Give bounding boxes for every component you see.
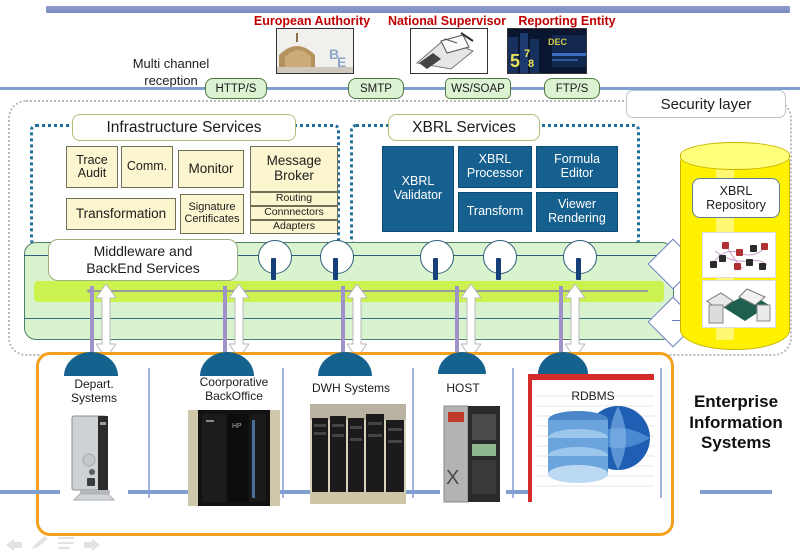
eis-hline-right — [700, 490, 772, 494]
eis-title-line3: Systems — [701, 433, 771, 454]
coorporative-line1: Coorporative — [186, 376, 282, 390]
depart-systems-image — [62, 412, 126, 502]
service-box-transform[interactable]: Transform — [458, 192, 532, 232]
eis-system-label-coorporative-backoffice: Coorporative BackOffice — [186, 376, 282, 404]
socket-bar-3 — [433, 258, 438, 280]
european-authority-image: B E — [276, 28, 354, 74]
rdbms-line1: RDBMS — [548, 390, 638, 404]
broker-sub-adapters[interactable]: Adapters — [250, 220, 338, 234]
bidirectional-arrow-4 — [461, 284, 481, 358]
host-image: X — [440, 404, 504, 504]
middleware-label: Middleware and BackEnd Services — [48, 239, 238, 281]
protocol-badge-smtp[interactable]: SMTP — [348, 78, 404, 99]
protocol-badge-ftps[interactable]: FTP/S — [544, 78, 600, 99]
socket-bar-5 — [576, 258, 581, 280]
message-broker-line1: Message — [267, 154, 322, 169]
bidirectional-arrow-5 — [565, 284, 585, 358]
dome-icon-1 — [64, 352, 118, 376]
host-line1: HOST — [430, 382, 496, 396]
multi-channel-line1: Multi channel — [96, 56, 246, 73]
socket-bar-2 — [333, 258, 338, 280]
coorporative-line2: BackOffice — [186, 390, 282, 404]
xbrl-processor-line1: XBRL — [479, 153, 512, 167]
service-box-transformation[interactable]: Transformation — [66, 198, 176, 230]
eis-system-label-dwh-systems: DWH Systems — [296, 382, 406, 396]
infrastructure-services-label: Infrastructure Services — [72, 114, 296, 141]
eis-separator-3 — [412, 368, 414, 498]
service-box-trace-audit[interactable]: Trace Audit — [66, 146, 118, 188]
viewer-rendering-line2: Rendering — [548, 212, 606, 226]
eis-hline-1 — [128, 490, 188, 494]
xbrl-validator-line1: XBRL — [402, 175, 435, 189]
eis-system-label-rdbms: RDBMS — [548, 390, 638, 404]
eis-hline-left — [0, 490, 60, 494]
protocol-badge-https[interactable]: HTTP/S — [205, 78, 267, 99]
eis-title-line1: Enterprise — [694, 392, 778, 413]
depart-systems-line1: Depart. — [56, 378, 132, 392]
formula-editor-line1: Formula — [554, 153, 600, 167]
service-box-message-broker[interactable]: Message Broker — [250, 146, 338, 192]
dome-icon-3 — [318, 352, 372, 376]
trace-audit-line1: Trace — [76, 154, 108, 168]
formula-editor-line2: Editor — [561, 167, 594, 181]
repository-network-image — [702, 232, 776, 278]
svg-text:8: 8 — [528, 58, 534, 70]
protocol-badge-wssoap[interactable]: WS/SOAP — [445, 78, 511, 99]
eis-system-label-host: HOST — [430, 382, 496, 396]
middleware-line1: Middleware and — [94, 243, 193, 260]
middleware-line2: BackEnd Services — [86, 260, 200, 277]
monitor-label: Monitor — [188, 162, 233, 177]
svg-text:DEC: DEC — [548, 37, 568, 47]
national-supervisor-image — [410, 28, 488, 74]
slide-top-bar — [46, 6, 790, 13]
socket-bar-1 — [271, 258, 276, 280]
socket-bar-4 — [496, 258, 501, 280]
eis-title-line2: Information — [689, 413, 783, 434]
service-box-formula-editor[interactable]: Formula Editor — [536, 146, 618, 188]
depart-systems-line2: Systems — [56, 392, 132, 406]
eis-separator-2 — [282, 368, 284, 498]
dome-icon-5 — [538, 352, 588, 374]
eis-system-label-depart-systems: Depart. Systems — [56, 378, 132, 406]
broker-sub-connnectors[interactable]: Connnectors — [250, 206, 338, 220]
bidirectional-arrow-2 — [229, 284, 249, 358]
svg-text:HP: HP — [232, 423, 242, 430]
xbrl-services-label: XBRL Services — [388, 114, 540, 141]
svg-text:5: 5 — [510, 51, 520, 71]
xbrl-processor-line2: Processor — [467, 167, 523, 181]
service-box-signature-certificates[interactable]: Signature Certificates — [180, 194, 244, 234]
dome-icon-2 — [200, 352, 254, 376]
message-broker-line2: Broker — [274, 169, 314, 184]
entity-title-reporting-entity: Reporting Entity — [496, 14, 638, 28]
eis-separator-1 — [148, 368, 150, 498]
broker-sub-routing[interactable]: Routing — [250, 192, 338, 206]
dwh-systems-line1: DWH Systems — [296, 382, 406, 396]
entity-title-european-authority: European Authority — [242, 14, 382, 28]
security-layer-label: Security layer — [626, 90, 786, 118]
bidirectional-arrow-3 — [347, 284, 367, 358]
repository-line2: Repository — [706, 198, 766, 212]
service-box-monitor[interactable]: Monitor — [178, 150, 244, 188]
eis-separator-5 — [660, 368, 662, 498]
service-box-comm[interactable]: Comm. — [121, 146, 173, 188]
repository-documents-image — [702, 280, 776, 328]
dome-icon-4 — [438, 352, 486, 374]
comm-label: Comm. — [127, 160, 167, 174]
signature-line2: Certificates — [184, 214, 239, 226]
svg-text:E: E — [337, 54, 346, 70]
service-box-xbrl-validator[interactable]: XBRL Validator — [382, 146, 454, 232]
xbrl-repository-label: XBRL Repository — [692, 178, 780, 218]
xbrl-validator-line2: Validator — [394, 189, 442, 203]
cylinder-top-ellipse — [680, 142, 790, 170]
repository-line1: XBRL — [720, 184, 753, 198]
bottom-status-icons — [0, 533, 800, 553]
svg-text:X: X — [446, 467, 459, 489]
service-box-viewer-rendering[interactable]: Viewer Rendering — [536, 192, 618, 232]
reporting-entity-image: 5 7 8 DEC — [507, 28, 587, 74]
middleware-flow-arrow-line — [88, 290, 648, 292]
coorporative-backoffice-image: HP — [188, 410, 280, 506]
enterprise-information-systems-title: Enterprise Information Systems — [672, 388, 800, 458]
eis-separator-4 — [512, 368, 514, 498]
dwh-systems-image — [310, 404, 406, 504]
viewer-rendering-line1: Viewer — [558, 198, 596, 212]
bidirectional-arrow-1 — [96, 284, 116, 358]
trace-audit-line2: Audit — [78, 167, 107, 181]
service-box-xbrl-processor[interactable]: XBRL Processor — [458, 146, 532, 188]
